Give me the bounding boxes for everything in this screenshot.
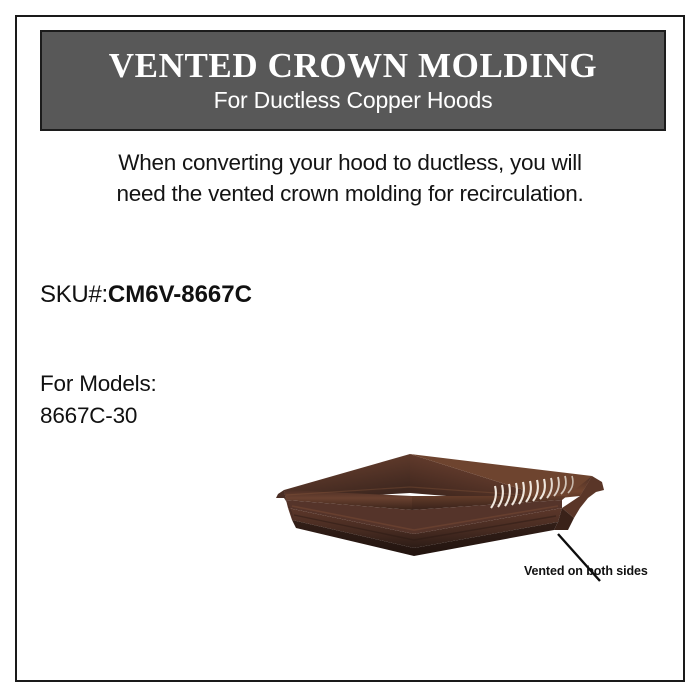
vent-caption: Vented on both sides	[524, 564, 648, 578]
product-info-page: VENTED CROWN MOLDING For Ductless Copper…	[0, 0, 700, 700]
models-label: For Models:	[40, 368, 157, 400]
models-block: For Models: 8667C-30	[40, 368, 157, 432]
sku-label: SKU#:	[40, 281, 108, 308]
intro-line-1: When converting your hood to ductless, y…	[45, 148, 655, 179]
page-title: VENTED CROWN MOLDING	[109, 48, 597, 85]
model-item: 8667C-30	[40, 400, 157, 432]
sku-row: SKU#:CM6V-8667C	[40, 281, 252, 309]
intro-line-2: need the vented crown molding for recirc…	[45, 179, 655, 210]
intro-paragraph: When converting your hood to ductless, y…	[45, 148, 655, 209]
page-subtitle: For Ductless Copper Hoods	[214, 88, 493, 113]
sku-value: CM6V-8667C	[108, 281, 252, 308]
header-banner: VENTED CROWN MOLDING For Ductless Copper…	[40, 30, 666, 131]
